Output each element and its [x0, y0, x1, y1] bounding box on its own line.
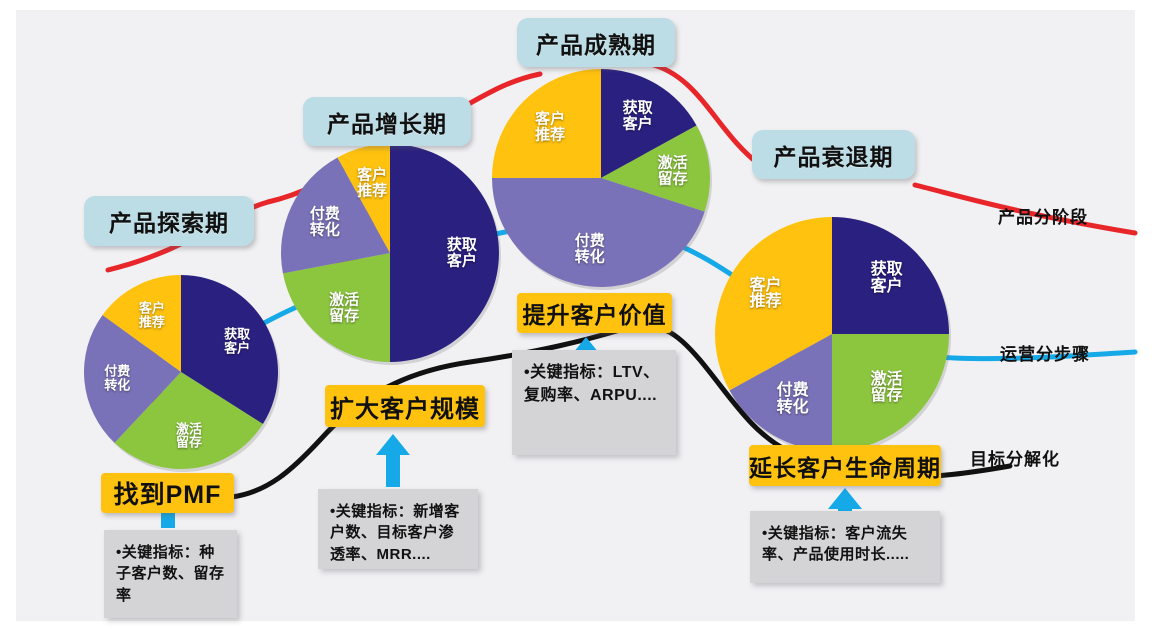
metric-note-text: •关键指标：新增客户数、目标客户渗透率、MRR.... — [330, 503, 460, 563]
metric-note-text: •关键指标：LTV、复购率、ARPU.... — [524, 364, 660, 404]
legend-label-text: 目标分解化 — [970, 450, 1060, 469]
goal-pill-value[interactable]: 提升客户价值 — [517, 293, 672, 333]
metric-note-value: •关键指标：LTV、复购率、ARPU.... — [512, 350, 676, 455]
pie-chart-explore: 获取客户激活留存付费转化客户推荐 — [84, 275, 278, 469]
stage-pill-label: 产品增长期 — [327, 105, 447, 139]
goal-pill-label: 找到PMF — [114, 475, 222, 511]
arrow-up-scale — [376, 434, 410, 487]
stage-pill-mature[interactable]: 产品成熟期 — [517, 18, 675, 67]
goal-pill-label: 扩大客户规模 — [330, 389, 480, 424]
legend-product-phase: 产品分阶段 — [998, 203, 1088, 228]
metric-note-text: •关键指标：种子客户数、留存率 — [116, 544, 225, 604]
pie-chart-growth: 获取客户激活留存付费转化客户推荐 — [281, 144, 499, 362]
legend-goal-decomposition: 目标分解化 — [970, 445, 1060, 470]
stage-pill-label: 产品探索期 — [109, 204, 229, 238]
stage-pill-decline[interactable]: 产品衰退期 — [752, 130, 915, 179]
pie-segment-refer[interactable] — [492, 69, 601, 178]
pie-segment-acquire[interactable] — [832, 217, 949, 334]
goal-pill-label: 提升客户价值 — [523, 296, 667, 330]
pie-segments — [492, 69, 710, 287]
stage-pill-label: 产品衰退期 — [774, 138, 894, 172]
goal-pill-scale[interactable]: 扩大客户规模 — [325, 385, 485, 427]
legend-label-text: 运营分步骤 — [1000, 345, 1090, 364]
stage-pill-explore[interactable]: 产品探索期 — [84, 196, 254, 246]
stage-pill-growth[interactable]: 产品增长期 — [303, 97, 471, 146]
goal-pill-pmf[interactable]: 找到PMF — [101, 473, 234, 513]
stage-pill-label: 产品成熟期 — [536, 26, 656, 60]
legend-operations-step: 运营分步骤 — [1000, 340, 1090, 365]
diagram-canvas: 获取客户激活留存付费转化客户推荐 获取客户激活留存付费转化客户推荐 获取客户激活… — [0, 0, 1166, 642]
goal-pill-label: 延长客户生命周期 — [749, 449, 941, 483]
metric-note-scale: •关键指标：新增客户数、目标客户渗透率、MRR.... — [318, 489, 478, 569]
pie-segments — [715, 217, 949, 451]
pie-segment-acquire[interactable] — [390, 144, 499, 362]
goal-pill-lifecycle[interactable]: 延长客户生命周期 — [749, 445, 941, 486]
pie-segments — [281, 144, 499, 362]
pie-chart-decline: 获取客户激活留存付费转化客户推荐 — [715, 217, 949, 451]
pie-segment-activate[interactable] — [832, 334, 949, 451]
pie-segments — [84, 275, 278, 469]
pie-chart-mature: 获取客户激活留存付费转化客户推荐 — [492, 69, 710, 287]
metric-note-pmf: •关键指标：种子客户数、留存率 — [104, 530, 237, 618]
metric-note-lifecycle: •关键指标：客户流失率、产品使用时长..... — [750, 511, 940, 583]
metric-note-text: •关键指标：客户流失率、产品使用时长..... — [762, 525, 909, 563]
legend-label-text: 产品分阶段 — [998, 208, 1088, 227]
